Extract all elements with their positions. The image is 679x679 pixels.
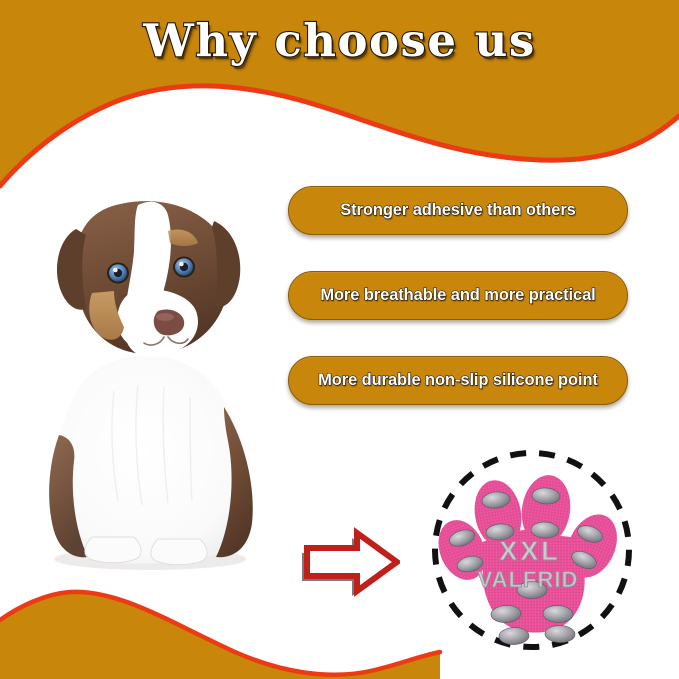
product-paw-pad: XXL VALFRID <box>424 442 640 658</box>
puppy-ear-left <box>57 229 86 310</box>
bottom-gold-wave <box>0 592 440 679</box>
puppy-body <box>55 356 250 564</box>
feature-pill-3[interactable]: More durable non-slip silicone point <box>288 356 628 405</box>
puppy-front-paw-left <box>85 537 141 563</box>
puppy-nose-highlight <box>156 313 174 321</box>
feature-pill-2[interactable]: More breathable and more practical <box>288 271 628 320</box>
right-arrow-icon <box>296 527 400 597</box>
puppy-eye-left <box>107 263 129 284</box>
puppy-photo <box>18 185 286 573</box>
top-red-accent-line <box>0 86 679 186</box>
feature-pill-1-label: Stronger adhesive than others <box>340 201 576 220</box>
why-choose-us-infographic: Why choose us <box>0 0 679 679</box>
product-brand-label: VALFRID <box>478 567 579 592</box>
feature-pill-2-label: More breathable and more practical <box>320 286 595 305</box>
puppy-front-paw-right <box>151 539 207 565</box>
feature-pill-1[interactable]: Stronger adhesive than others <box>288 186 628 235</box>
bottom-red-accent-line <box>0 592 440 675</box>
page-title: Why choose us <box>0 14 679 67</box>
product-size-label: XXL <box>499 536 561 566</box>
puppy-eye-right <box>173 257 195 278</box>
feature-pill-3-label: More durable non-slip silicone point <box>318 371 598 390</box>
